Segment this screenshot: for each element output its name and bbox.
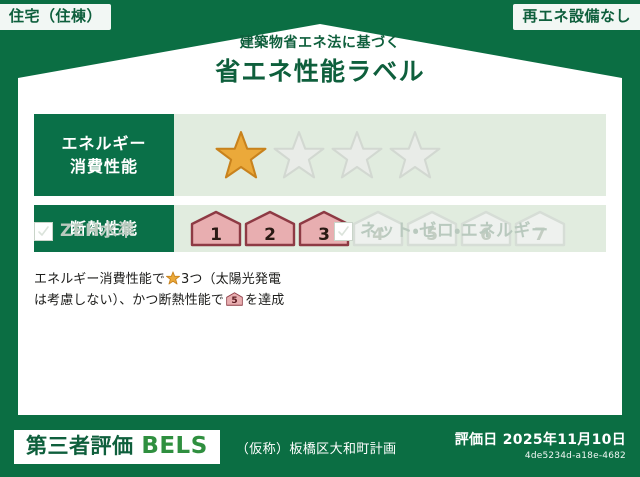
net-zero-energy-header: ネット・ゼロ・エネルギー <box>334 222 549 241</box>
zeh-section: ZEH水準 エネルギー消費性能で3つ（太陽光発電は考慮しない）、かつ断熱性能で5… <box>34 222 606 311</box>
zeh-desc-part4: を達成 <box>245 293 284 308</box>
energy-performance-label: 住宅（住棟） 再エネ設備なし 建築物省エネ法に基づく 省エネ性能ラベル エネルギ… <box>0 0 640 477</box>
star-2 <box>272 129 326 181</box>
bels-logo: 第三者評価 BELS <box>14 430 220 464</box>
row-energy-label: エネルギー 消費性能 <box>34 114 174 196</box>
row-energy-label-line2: 消費性能 <box>70 155 138 178</box>
zeh-standard-description: エネルギー消費性能で3つ（太陽光発電は考慮しない）、かつ断熱性能で5を達成 <box>34 248 334 311</box>
star-4 <box>388 129 442 181</box>
row-energy-body <box>174 114 606 196</box>
row-energy-performance: エネルギー 消費性能 <box>34 114 606 196</box>
star-1 <box>214 129 268 181</box>
zeh-standard-header: ZEH水準 <box>34 222 334 241</box>
star-3 <box>330 129 384 181</box>
inline-star-icon <box>166 271 180 285</box>
net-zero-energy-checkbox[interactable] <box>334 222 353 241</box>
bels-logo-en: BELS <box>141 433 207 459</box>
badge-building-type: 住宅（住棟） <box>0 4 111 30</box>
inline-grade-badge: 5 <box>226 292 243 306</box>
title-main: 省エネ性能ラベル <box>0 59 640 84</box>
star-rating <box>174 129 442 181</box>
inline-grade-number: 5 <box>226 297 243 306</box>
zeh-standard-title: ZEH水準 <box>60 223 135 240</box>
zeh-desc-part1: エネルギー消費性能で <box>34 272 165 287</box>
evaluation-date: 評価日 2025年11月10日 <box>455 433 626 448</box>
zeh-desc-part2: 3つ（太陽光発電 <box>181 272 281 287</box>
title-subtitle: 建築物省エネ法に基づく <box>0 36 640 50</box>
evaluation-id: 4de5234d-a18e-4682 <box>455 451 626 461</box>
net-zero-energy-title: ネット・ゼロ・エネルギー <box>360 223 549 240</box>
zeh-desc-part3: は考慮しない）、かつ断熱性能で <box>34 293 224 308</box>
net-zero-energy-block: ネット・ゼロ・エネルギー <box>334 222 549 311</box>
badge-renewable-equipment: 再エネ設備なし <box>513 4 640 30</box>
title-block: 建築物省エネ法に基づく 省エネ性能ラベル <box>0 36 640 84</box>
row-energy-label-line1: エネルギー <box>61 132 146 155</box>
bels-logo-jp: 第三者評価 <box>26 434 134 458</box>
zeh-standard-checkbox[interactable] <box>34 222 53 241</box>
footer-right: 評価日 2025年11月10日 4de5234d-a18e-4682 <box>455 433 626 461</box>
building-name: （仮称）板橋区大和町計画 <box>236 438 397 457</box>
zeh-standard-block: ZEH水準 エネルギー消費性能で3つ（太陽光発電は考慮しない）、かつ断熱性能で5… <box>34 222 334 311</box>
footer: 第三者評価 BELS （仮称）板橋区大和町計画 評価日 2025年11月10日 … <box>0 417 640 477</box>
